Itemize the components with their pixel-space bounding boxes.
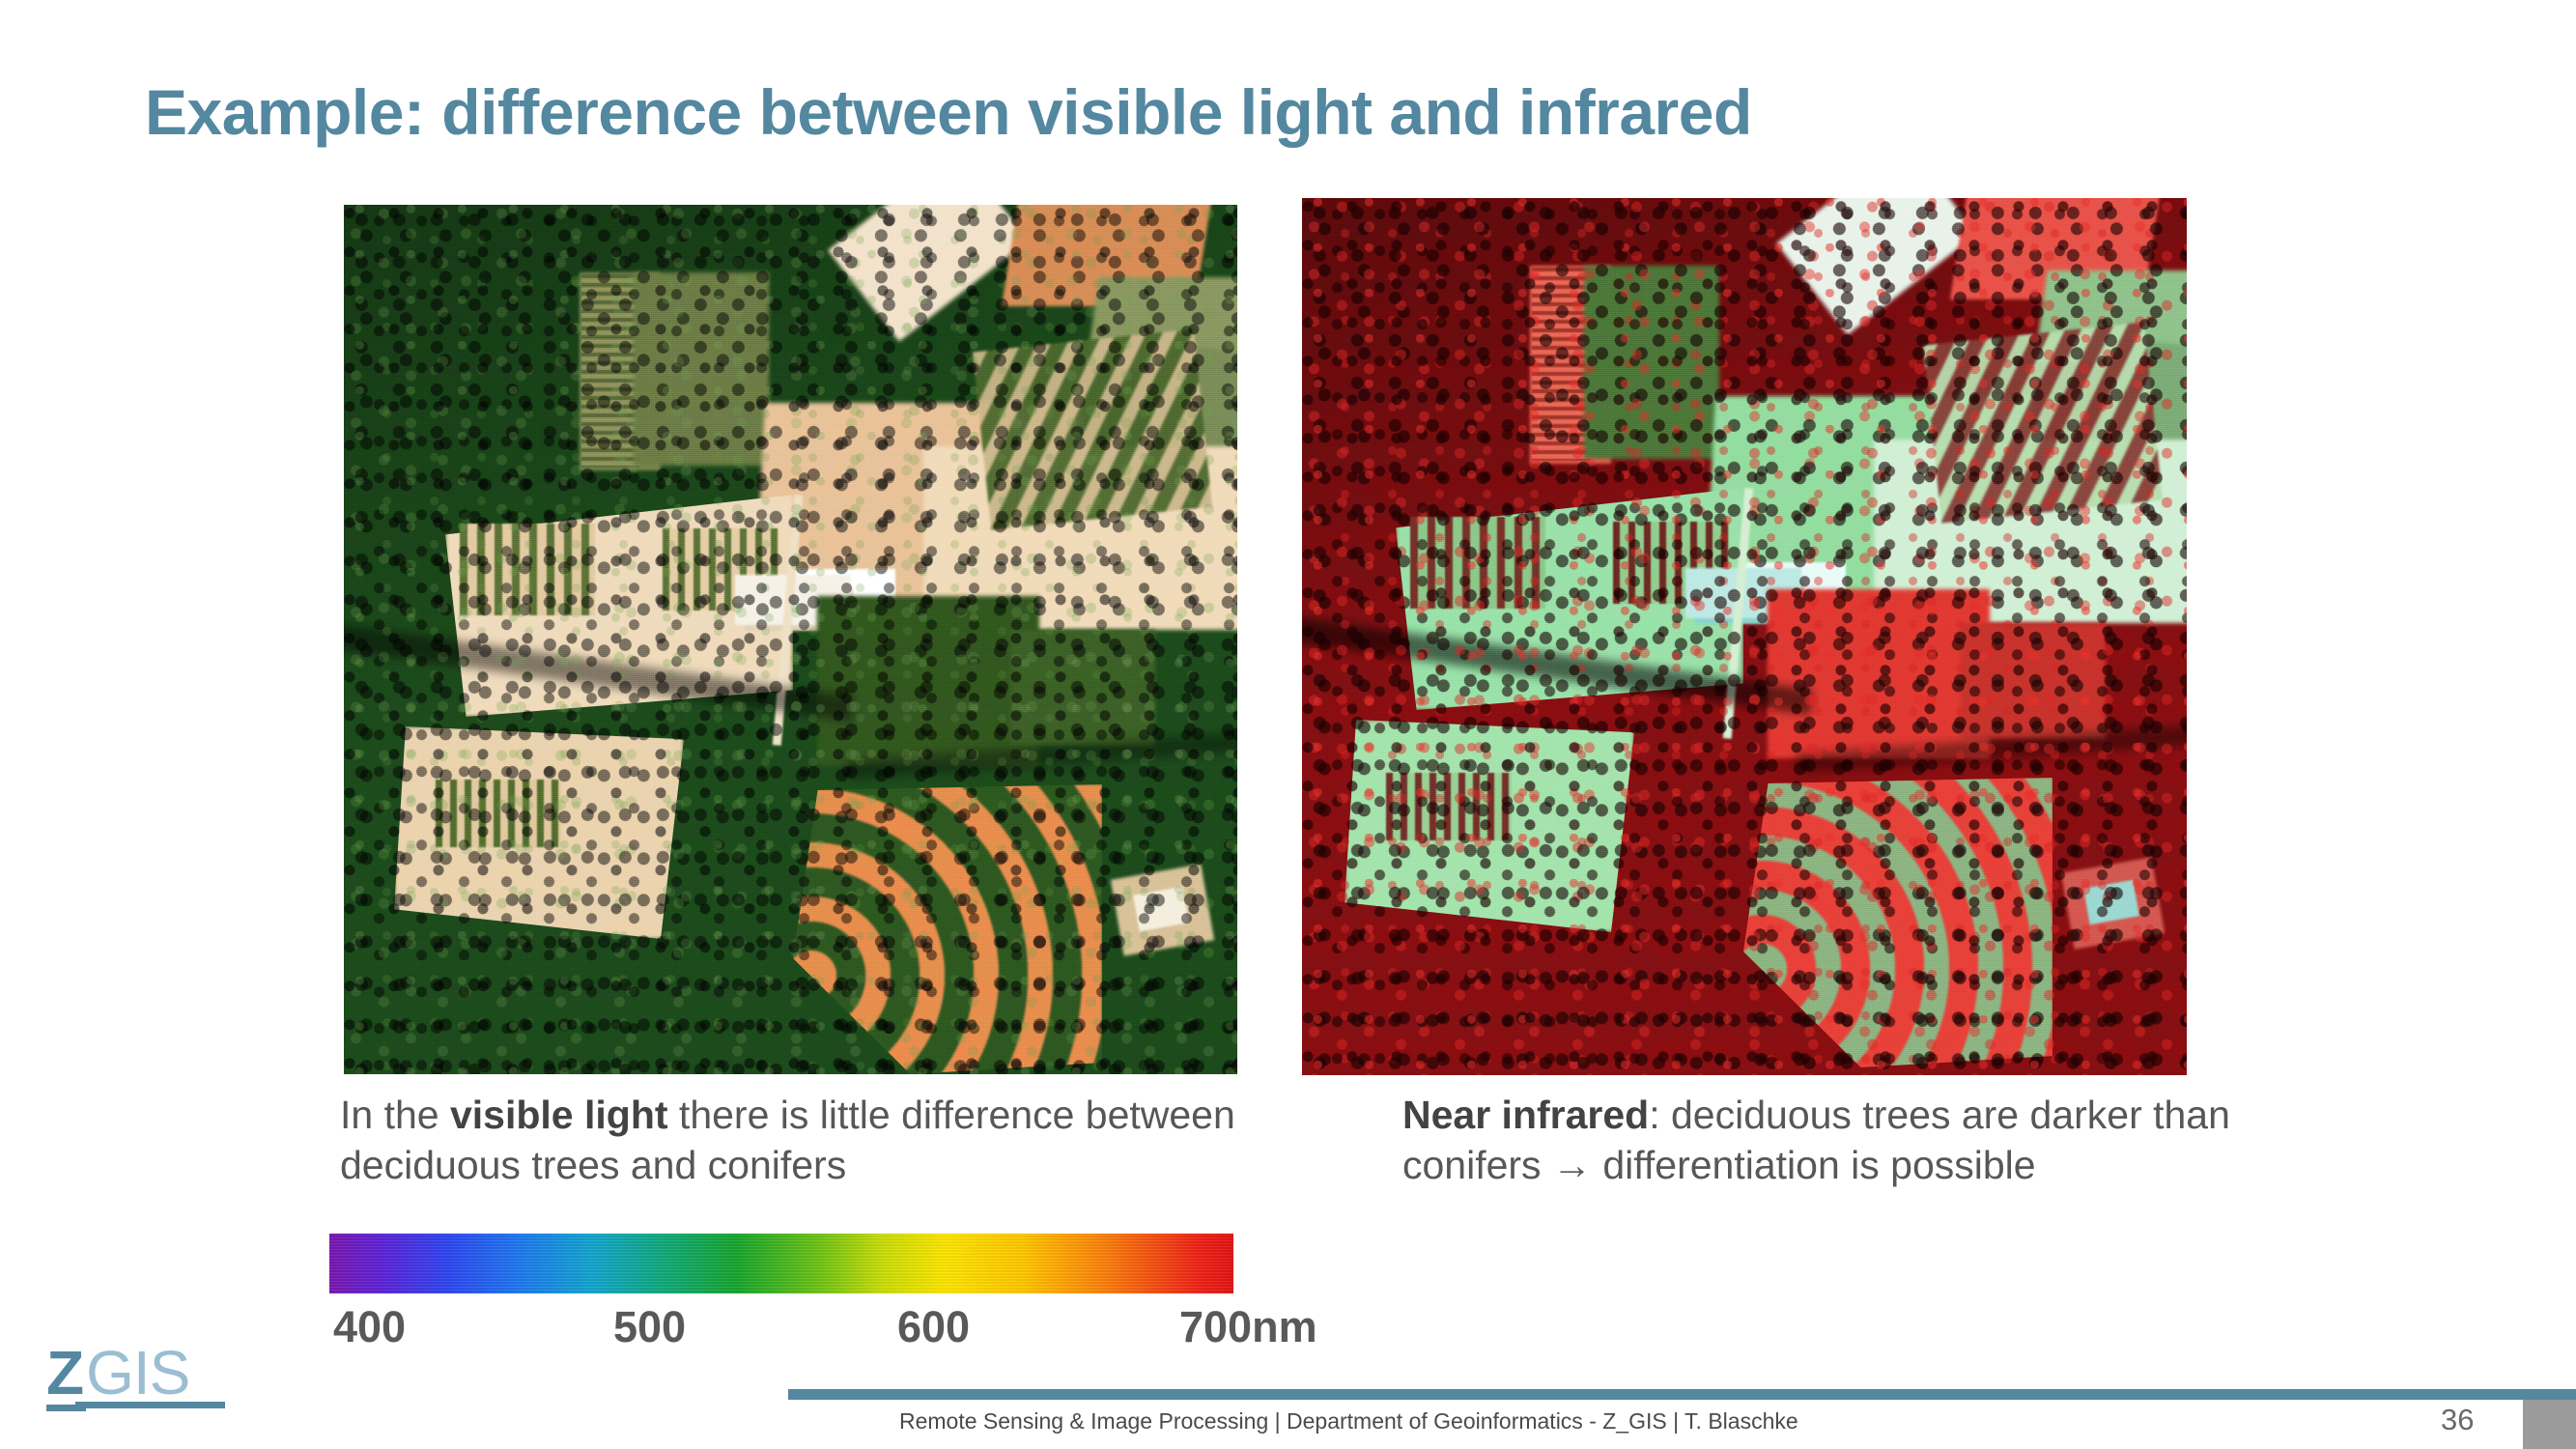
caption-left-bold: visible light	[450, 1093, 668, 1137]
film-grain	[1302, 198, 2187, 1075]
caption-visible-light: In the visible light there is little dif…	[340, 1090, 1335, 1190]
footer-text: Remote Sensing & Image Processing | Depa…	[899, 1408, 1798, 1435]
corner-block	[2523, 1400, 2576, 1449]
right-arrow-icon: →	[1552, 1143, 1592, 1187]
page-number: 36	[2441, 1403, 2474, 1437]
spectrum-tick-600: 600	[897, 1302, 970, 1352]
caption-right-bold: Near infrared	[1402, 1093, 1649, 1137]
spectrum-tick-700nm: 700nm	[1179, 1302, 1317, 1352]
spectrum-grain	[329, 1234, 1233, 1293]
caption-left-prefix: In the	[340, 1093, 450, 1137]
caption-right-tail: differentiation is possible	[1592, 1143, 2036, 1187]
spectrum-tick-400: 400	[333, 1302, 406, 1352]
zgis-logo: ZGIS	[46, 1337, 189, 1408]
film-grain	[344, 205, 1237, 1074]
spectrum-axis-labels: 400 500 600 700nm	[329, 1302, 1295, 1358]
footer-rule	[788, 1389, 2576, 1400]
visible-spectrum-bar	[329, 1234, 1233, 1293]
logo-underline	[75, 1402, 225, 1408]
near-infrared-aerial-photo	[1302, 198, 2187, 1075]
page-title: Example: difference between visible ligh…	[145, 79, 2463, 146]
spectrum-tick-500: 500	[613, 1302, 686, 1352]
caption-near-infrared: Near infrared: deciduous trees are darke…	[1402, 1090, 2272, 1190]
visible-light-aerial-photo	[344, 205, 1237, 1074]
